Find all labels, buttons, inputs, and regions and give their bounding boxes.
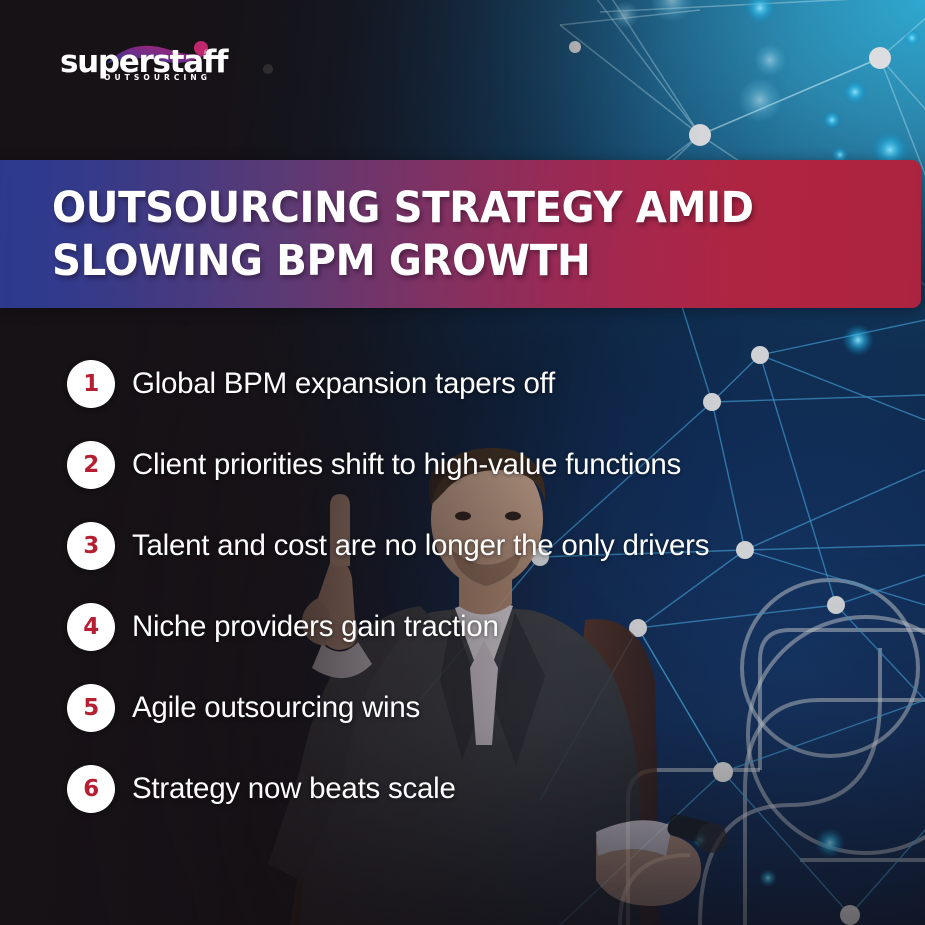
logo-registered-icon: ® xyxy=(203,49,210,57)
list-number-badge: 1 xyxy=(67,360,115,408)
key-points-list: 1 Global BPM expansion tapers off 2 Clie… xyxy=(67,343,867,829)
list-item-label: Niche providers gain traction xyxy=(132,610,499,644)
list-item: 5 Agile outsourcing wins xyxy=(67,667,867,748)
page-title: OUTSOURCING STRATEGY AMID SLOWING BPM GR… xyxy=(52,182,819,288)
list-number-badge: 4 xyxy=(67,603,115,651)
list-item-label: Strategy now beats scale xyxy=(132,772,456,806)
list-item-label: Global BPM expansion tapers off xyxy=(132,367,555,401)
brand-logo[interactable]: superstaff ® OUTSOURCING xyxy=(60,41,220,85)
list-number-badge: 3 xyxy=(67,522,115,570)
list-item-label: Talent and cost are no longer the only d… xyxy=(132,529,709,563)
list-item: 1 Global BPM expansion tapers off xyxy=(67,343,867,424)
title-banner: OUTSOURCING STRATEGY AMID SLOWING BPM GR… xyxy=(0,160,921,308)
list-item-label: Client priorities shift to high-value fu… xyxy=(132,448,681,482)
infographic-poster: superstaff ® OUTSOURCING OUTSOURCING STR… xyxy=(0,0,925,925)
list-number-badge: 5 xyxy=(67,684,115,732)
list-item: 3 Talent and cost are no longer the only… xyxy=(67,505,867,586)
list-item-label: Agile outsourcing wins xyxy=(132,691,420,725)
list-number-badge: 2 xyxy=(67,441,115,489)
list-item: 6 Strategy now beats scale xyxy=(67,748,867,829)
list-item: 4 Niche providers gain traction xyxy=(67,586,867,667)
list-item: 2 Client priorities shift to high-value … xyxy=(67,424,867,505)
logo-tagline: OUTSOURCING xyxy=(104,74,211,82)
list-number-badge: 6 xyxy=(67,765,115,813)
